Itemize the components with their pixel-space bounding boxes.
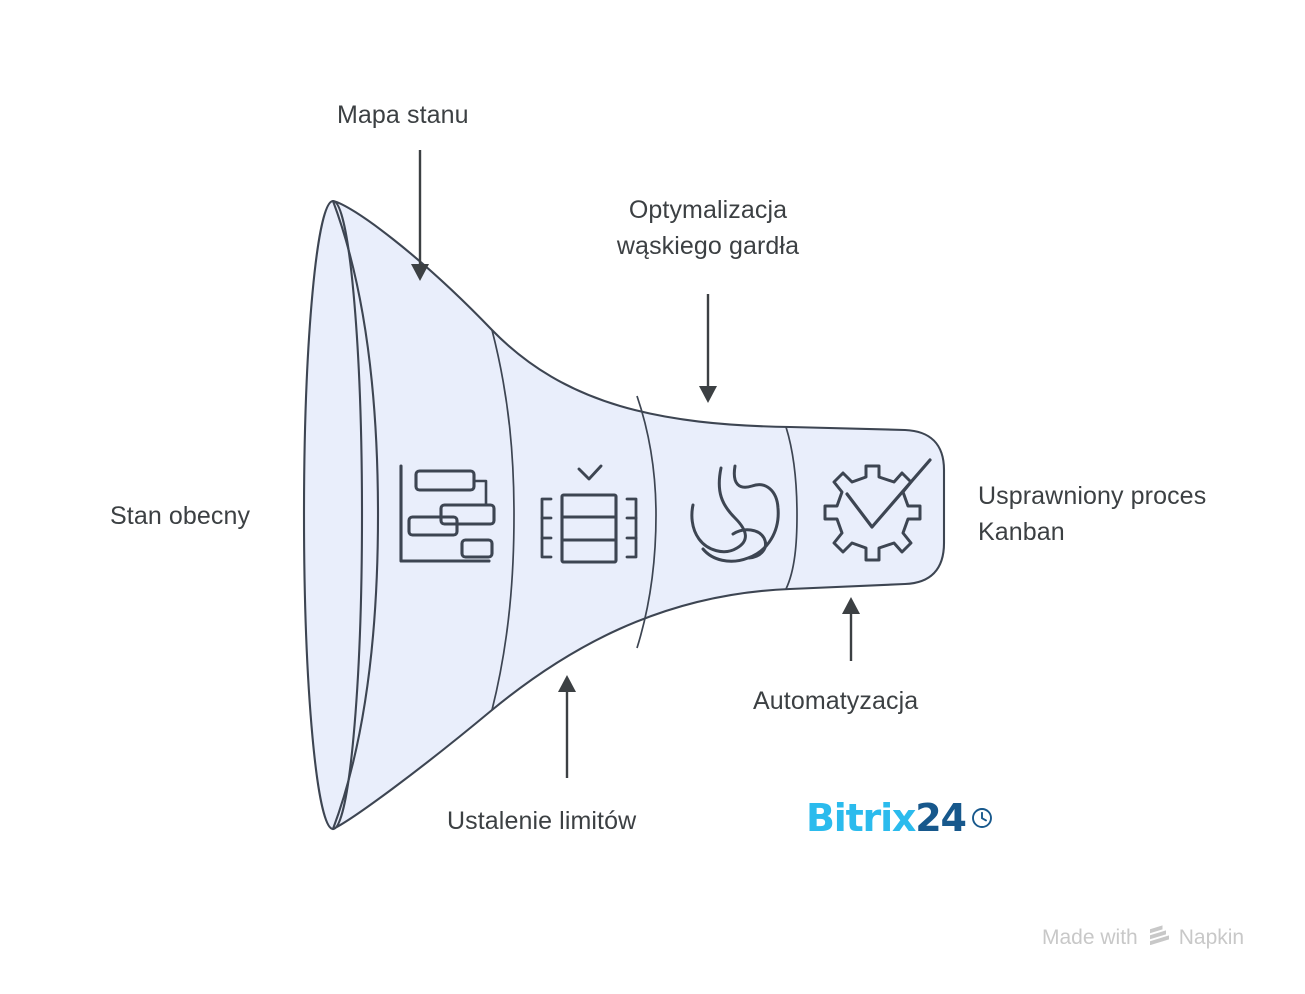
- bitrix24-logo-word: Bitrix: [806, 796, 915, 840]
- watermark-prefix: Made with: [1042, 926, 1138, 950]
- stage-label-optymalizacja: Optymalizacja wąskiego gardła: [558, 192, 858, 264]
- callout-arrow-ustalenie-limitow: [558, 675, 576, 778]
- stage-label-mapa-stanu: Mapa stanu: [337, 97, 677, 133]
- callout-arrow-automatyzacja: [842, 597, 860, 661]
- diagram-canvas: Mapa stanu Optymalizacja wąskiego gardła…: [0, 0, 1305, 994]
- bitrix24-logo-number: 24: [915, 796, 965, 840]
- stage-label-automatyzacja: Automatyzacja: [753, 683, 1073, 719]
- funnel-input-label: Stan obecny: [110, 498, 350, 534]
- napkin-watermark: Made with Napkin: [1042, 924, 1244, 951]
- napkin-chevrons-icon: [1147, 924, 1170, 951]
- watermark-suffix: Napkin: [1179, 926, 1244, 950]
- stage-label-ustalenie-limitow: Ustalenie limitów: [447, 803, 767, 839]
- bitrix24-logo: Bitrix24: [806, 795, 993, 841]
- clock-icon: [971, 807, 993, 829]
- funnel-outline: [333, 201, 944, 829]
- callout-arrow-optymalizacja: [699, 294, 717, 403]
- funnel-output-label: Usprawniony proces Kanban: [978, 478, 1278, 550]
